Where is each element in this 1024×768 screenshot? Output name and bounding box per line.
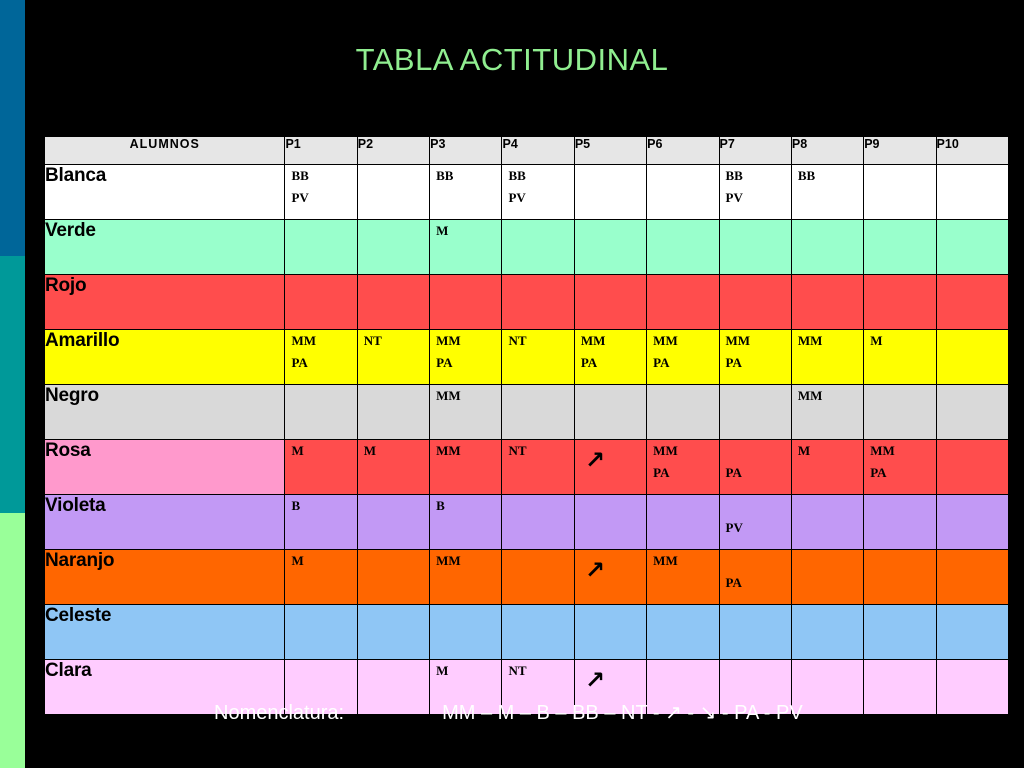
mark-cell-amarillo-p2: NT [357, 330, 429, 385]
mark-cell-violeta-p6 [647, 495, 719, 550]
student-name-negro: Negro [45, 385, 285, 440]
column-header-p2: P2 [357, 137, 429, 165]
table-row: Celeste [45, 605, 1009, 660]
mark-cell-rosa-p2: M [357, 440, 429, 495]
mark-secondary: PV [726, 521, 743, 534]
page-title: TABLA ACTITUDINAL [0, 42, 1024, 78]
mark-cell-naranjo-p2 [357, 550, 429, 605]
mark-secondary: PA [726, 466, 742, 479]
mark-cell-naranjo-p10 [936, 550, 1008, 605]
table-row: RosaMMMMNT↗MMPAPAMMMPA [45, 440, 1009, 495]
attitudinal-table: ALUMNOSP1P2P3P4P5P6P7P8P9P10 BlancaBBPVB… [44, 136, 1009, 715]
student-name-amarillo: Amarillo [45, 330, 285, 385]
column-header-p8: P8 [791, 137, 863, 165]
table-row: VioletaBBPV [45, 495, 1009, 550]
mark-cell-celeste-p6 [647, 605, 719, 660]
mark-primary: M [436, 664, 448, 677]
mark-cell-blanca-p7: BBPV [719, 165, 791, 220]
column-header-p5: P5 [574, 137, 646, 165]
mark-cell-naranjo-p8 [791, 550, 863, 605]
table-body: BlancaBBPVBBBBPVBBPVBBVerdeMRojoAmarillo… [45, 165, 1009, 715]
mark-cell-rosa-p7: PA [719, 440, 791, 495]
column-header-p1: P1 [285, 137, 357, 165]
student-name-naranjo: Naranjo [45, 550, 285, 605]
mark-cell-amarillo-p7: MMPA [719, 330, 791, 385]
table-header-row: ALUMNOSP1P2P3P4P5P6P7P8P9P10 [45, 137, 1009, 165]
nomenclature-label: Nomenclatura: [214, 702, 344, 725]
color-band-blue [0, 0, 25, 256]
mark-primary: MM [436, 389, 461, 402]
mark-cell-celeste-p2 [357, 605, 429, 660]
mark-primary: MM [436, 554, 461, 567]
mark-cell-violeta-p8 [791, 495, 863, 550]
mark-cell-negro-p2 [357, 385, 429, 440]
mark-primary: M [364, 444, 376, 457]
table-row: BlancaBBPVBBBBPVBBPVBB [45, 165, 1009, 220]
mark-cell-violeta-p5 [574, 495, 646, 550]
mark-primary: MM [653, 444, 678, 457]
mark-cell-naranjo-p4 [502, 550, 574, 605]
mark-cell-rosa-p3: MM [430, 440, 502, 495]
mark-cell-naranjo-p9 [864, 550, 936, 605]
mark-cell-amarillo-p5: MMPA [574, 330, 646, 385]
mark-cell-blanca-p1: BBPV [285, 165, 357, 220]
mark-primary: MM [653, 554, 678, 567]
mark-primary: BB [436, 169, 453, 182]
mark-cell-blanca-p5 [574, 165, 646, 220]
mark-cell-amarillo-p1: MMPA [285, 330, 357, 385]
mark-cell-celeste-p5 [574, 605, 646, 660]
mark-secondary: PV [726, 191, 743, 204]
mark-cell-blanca-p4: BBPV [502, 165, 574, 220]
mark-cell-naranjo-p1: M [285, 550, 357, 605]
mark-cell-amarillo-p9: M [864, 330, 936, 385]
mark-cell-verde-p4 [502, 220, 574, 275]
student-name-blanca: Blanca [45, 165, 285, 220]
mark-cell-verde-p9 [864, 220, 936, 275]
mark-cell-naranjo-p7: PA [719, 550, 791, 605]
mark-cell-celeste-p8 [791, 605, 863, 660]
mark-cell-verde-p8 [791, 220, 863, 275]
mark-cell-verde-p3: M [430, 220, 502, 275]
mark-cell-blanca-p8: BB [791, 165, 863, 220]
mark-cell-rojo-p7 [719, 275, 791, 330]
mark-primary: M [291, 554, 303, 567]
column-header-p9: P9 [864, 137, 936, 165]
mark-cell-amarillo-p3: MMPA [430, 330, 502, 385]
mark-secondary: PA [726, 576, 742, 589]
mark-primary: NT [508, 664, 526, 677]
mark-primary: B [291, 499, 300, 512]
mark-cell-rosa-p10 [936, 440, 1008, 495]
mark-cell-amarillo-p10 [936, 330, 1008, 385]
table-row: NegroMMMM [45, 385, 1009, 440]
mark-cell-celeste-p3 [430, 605, 502, 660]
mark-primary: MM [436, 334, 461, 347]
student-name-rosa: Rosa [45, 440, 285, 495]
mark-cell-rojo-p4 [502, 275, 574, 330]
column-header-p10: P10 [936, 137, 1008, 165]
mark-secondary: PA [726, 356, 742, 369]
column-header-p4: P4 [502, 137, 574, 165]
mark-cell-verde-p2 [357, 220, 429, 275]
table-row: VerdeM [45, 220, 1009, 275]
mark-cell-rojo-p10 [936, 275, 1008, 330]
student-name-rojo: Rojo [45, 275, 285, 330]
mark-cell-violeta-p7: PV [719, 495, 791, 550]
mark-cell-rosa-p8: M [791, 440, 863, 495]
mark-cell-verde-p6 [647, 220, 719, 275]
mark-cell-negro-p4 [502, 385, 574, 440]
mark-cell-rojo-p3 [430, 275, 502, 330]
mark-secondary: PA [291, 356, 307, 369]
mark-primary: NT [508, 334, 526, 347]
mark-primary: BB [798, 169, 815, 182]
mark-cell-violeta-p1: B [285, 495, 357, 550]
table-row: NaranjoMMM↗MMPA [45, 550, 1009, 605]
mark-primary: NT [508, 444, 526, 457]
mark-cell-celeste-p1 [285, 605, 357, 660]
arrow-up-right-icon: ↗ [585, 668, 605, 692]
mark-cell-amarillo-p8: MM [791, 330, 863, 385]
column-header-p6: P6 [647, 137, 719, 165]
mark-cell-naranjo-p3: MM [430, 550, 502, 605]
mark-primary: MM [798, 334, 823, 347]
mark-primary: MM [870, 444, 895, 457]
mark-cell-verde-p5 [574, 220, 646, 275]
mark-cell-naranjo-p5: ↗ [574, 550, 646, 605]
mark-primary: MM [653, 334, 678, 347]
mark-cell-rosa-p4: NT [502, 440, 574, 495]
mark-cell-verde-p1 [285, 220, 357, 275]
student-name-verde: Verde [45, 220, 285, 275]
mark-primary: M [436, 224, 448, 237]
mark-cell-blanca-p2 [357, 165, 429, 220]
mark-cell-violeta-p3: B [430, 495, 502, 550]
mark-cell-celeste-p9 [864, 605, 936, 660]
mark-primary: M [870, 334, 882, 347]
column-header-p3: P3 [430, 137, 502, 165]
mark-cell-verde-p7 [719, 220, 791, 275]
mark-cell-rojo-p5 [574, 275, 646, 330]
mark-primary: B [436, 499, 445, 512]
mark-secondary: PA [436, 356, 452, 369]
arrow-up-right-icon: ↗ [585, 558, 605, 582]
mark-cell-celeste-p4 [502, 605, 574, 660]
mark-secondary: PV [508, 191, 525, 204]
mark-cell-negro-p1 [285, 385, 357, 440]
mark-cell-rojo-p2 [357, 275, 429, 330]
mark-primary: MM [798, 389, 823, 402]
mark-cell-rosa-p1: M [285, 440, 357, 495]
mark-cell-blanca-p10 [936, 165, 1008, 220]
mark-secondary: PA [870, 466, 886, 479]
mark-primary: MM [436, 444, 461, 457]
mark-primary: M [798, 444, 810, 457]
student-name-celeste: Celeste [45, 605, 285, 660]
mark-cell-rosa-p5: ↗ [574, 440, 646, 495]
nomenclature-footer: Nomenclatura: MM – M – B – BB – NT - ↗ -… [44, 700, 1009, 725]
column-header-alumnos: ALUMNOS [45, 137, 285, 165]
mark-cell-violeta-p4 [502, 495, 574, 550]
mark-primary: BB [726, 169, 743, 182]
left-color-bands [0, 0, 25, 768]
mark-cell-negro-p3: MM [430, 385, 502, 440]
mark-cell-rojo-p1 [285, 275, 357, 330]
color-band-green [0, 513, 25, 768]
mark-cell-violeta-p2 [357, 495, 429, 550]
color-band-teal [0, 256, 25, 513]
table-row: AmarilloMMPANTMMPANTMMPAMMPAMMPAMMM [45, 330, 1009, 385]
mark-cell-celeste-p7 [719, 605, 791, 660]
mark-primary: BB [508, 169, 525, 182]
mark-cell-violeta-p9 [864, 495, 936, 550]
mark-cell-blanca-p3: BB [430, 165, 502, 220]
mark-cell-negro-p9 [864, 385, 936, 440]
attitudinal-table-container: ALUMNOSP1P2P3P4P5P6P7P8P9P10 BlancaBBPVB… [44, 136, 1009, 715]
mark-secondary: PV [291, 191, 308, 204]
mark-cell-negro-p7 [719, 385, 791, 440]
mark-cell-rosa-p6: MMPA [647, 440, 719, 495]
student-name-violeta: Violeta [45, 495, 285, 550]
mark-primary: MM [291, 334, 316, 347]
mark-cell-amarillo-p6: MMPA [647, 330, 719, 385]
mark-cell-blanca-p9 [864, 165, 936, 220]
arrow-up-right-icon: ↗ [585, 448, 605, 472]
table-row: Rojo [45, 275, 1009, 330]
mark-cell-blanca-p6 [647, 165, 719, 220]
mark-primary: NT [364, 334, 382, 347]
mark-primary: M [291, 444, 303, 457]
mark-cell-rojo-p9 [864, 275, 936, 330]
table-header: ALUMNOSP1P2P3P4P5P6P7P8P9P10 [45, 137, 1009, 165]
mark-primary: BB [291, 169, 308, 182]
nomenclature-legend: MM – M – B – BB – NT - ↗ - ↘ - PA - PV [442, 700, 803, 725]
mark-cell-violeta-p10 [936, 495, 1008, 550]
mark-cell-celeste-p10 [936, 605, 1008, 660]
mark-cell-rojo-p8 [791, 275, 863, 330]
mark-cell-amarillo-p4: NT [502, 330, 574, 385]
mark-secondary: PA [653, 356, 669, 369]
mark-cell-naranjo-p6: MM [647, 550, 719, 605]
mark-cell-rosa-p9: MMPA [864, 440, 936, 495]
mark-cell-negro-p5 [574, 385, 646, 440]
mark-cell-negro-p10 [936, 385, 1008, 440]
mark-primary: MM [581, 334, 606, 347]
mark-cell-verde-p10 [936, 220, 1008, 275]
mark-cell-rojo-p6 [647, 275, 719, 330]
mark-cell-negro-p6 [647, 385, 719, 440]
mark-secondary: PA [581, 356, 597, 369]
mark-secondary: PA [653, 466, 669, 479]
column-header-p7: P7 [719, 137, 791, 165]
mark-cell-negro-p8: MM [791, 385, 863, 440]
mark-primary: MM [726, 334, 751, 347]
